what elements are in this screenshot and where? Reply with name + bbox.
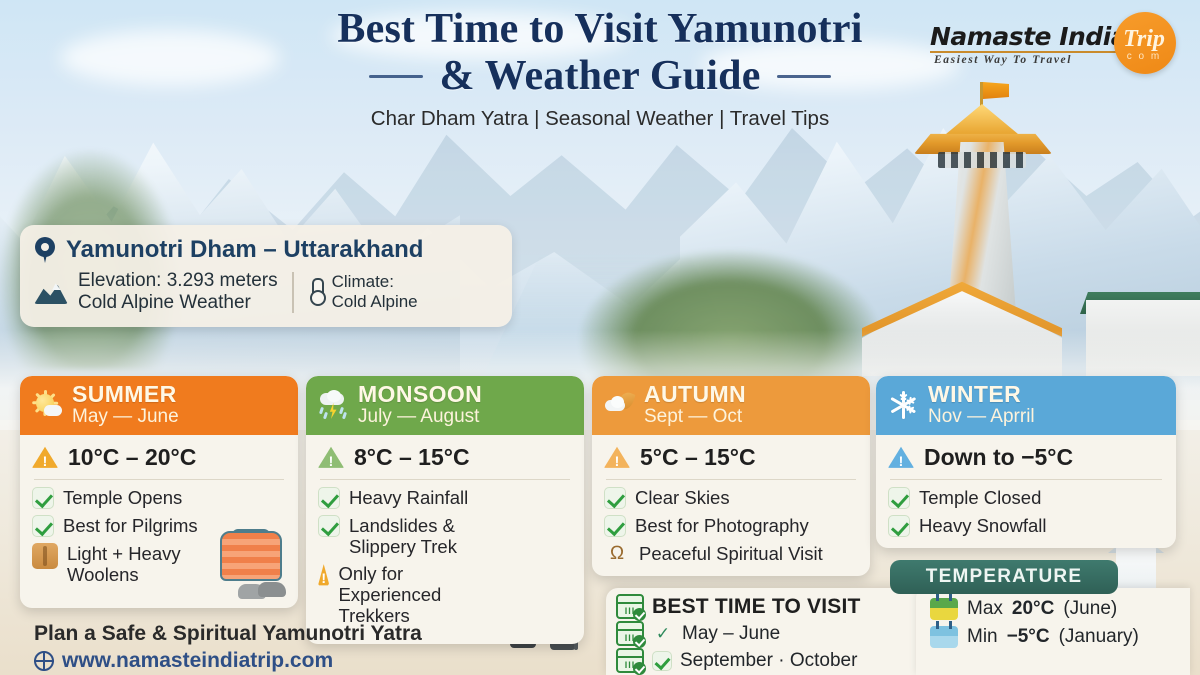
summer-card-header: SUMMER May — June <box>20 376 298 435</box>
autumn-feature-2-label: Best for Photography <box>635 515 809 537</box>
cloud-leaf-icon <box>604 391 634 419</box>
storm-cloud-icon <box>318 391 348 419</box>
temperature-max-prefix: Max <box>967 598 1003 620</box>
summer-months: May — June <box>72 407 179 426</box>
winter-feature-2: Heavy Snowfall <box>888 515 1164 537</box>
monsoon-card-header: MONSOON July — August <box>306 376 584 435</box>
check-icon <box>318 515 340 537</box>
temperature-min-suffix: (January) <box>1059 626 1139 648</box>
best-time-to-visit-box: BEST TIME TO VISIT ✓ May – June Septembe… <box>606 588 938 675</box>
map-pin-icon <box>34 237 56 263</box>
elevation-line2: Cold Alpine Weather <box>78 292 251 313</box>
thermometer-icon <box>308 278 324 306</box>
warning-icon <box>888 446 914 469</box>
footer: Plan a Safe & Spiritual Yamunotri Yatra … <box>34 622 422 673</box>
autumn-card-header: AUTUMN Sept — Oct <box>592 376 870 435</box>
best-time-item-2: September · October <box>616 648 928 673</box>
check-icon <box>32 487 54 509</box>
om-icon: Ω <box>604 543 630 565</box>
winter-months: Nov — Aprril <box>928 407 1035 426</box>
winter-temp: Down to −5°C <box>924 444 1073 471</box>
check-icon <box>888 487 910 509</box>
best-time-title-row: BEST TIME TO VISIT <box>616 594 928 619</box>
climate-value: Cold Alpine <box>332 292 418 311</box>
monsoon-feature-3: Only for Experienced Trekkers <box>318 563 448 626</box>
summer-feature-3: Light + Heavy Woolens <box>32 543 202 585</box>
summer-divider <box>34 479 284 480</box>
elevation-text: Elevation: 3.293 meters Cold Alpine Weat… <box>78 270 278 315</box>
summer-temp: 10°C – 20°C <box>68 444 196 471</box>
best-time-item-2-label: September · October <box>680 650 857 672</box>
monsoon-months: July — August <box>358 407 482 426</box>
temperature-tab: TEMPERATURE <box>890 560 1118 594</box>
autumn-feature-2: Best for Photography <box>604 515 858 537</box>
warning-icon <box>604 446 630 469</box>
autumn-divider <box>606 479 856 480</box>
infographic-canvas: Best Time to Visit Yamunotri & Weather G… <box>0 0 1200 675</box>
globe-icon <box>34 651 54 671</box>
brand-logo[interactable]: Namaste India Easiest Way To Travel Trip… <box>920 10 1182 76</box>
location-title: Yamunotri Dham – Uttarakhand <box>66 236 423 264</box>
monsoon-feature-1-label: Heavy Rainfall <box>349 487 468 509</box>
max-temp-icon <box>930 598 958 620</box>
temperature-min-row: Min −5°C (January) <box>930 626 1182 648</box>
page-subtitle: Char Dham Yatra | Seasonal Weather | Tra… <box>0 107 1200 131</box>
elevation-block: Elevation: 3.293 meters Cold Alpine Weat… <box>34 270 292 315</box>
monsoon-feature-2: Landslides & Slippery Trek <box>318 515 480 557</box>
winter-card-body: Down to −5°C Temple Closed Heavy Snowfal… <box>876 435 1176 548</box>
temperature-title: TEMPERATURE <box>926 566 1082 588</box>
autumn-feature-1-label: Clear Skies <box>635 487 730 509</box>
autumn-card-body: 5°C – 15°C Clear Skies Best for Photogra… <box>592 435 870 576</box>
monsoon-feature-2-label: Landslides & Slippery Trek <box>349 515 480 557</box>
check-icon <box>32 515 54 537</box>
climate-label: Climate: <box>332 272 394 291</box>
temperature-max-value: 20°C <box>1012 598 1054 620</box>
location-info-card: Yamunotri Dham – Uttarakhand Elevation: … <box>20 225 512 327</box>
autumn-temp-row: 5°C – 15°C <box>604 444 858 471</box>
logo-trip-text: Trip <box>1116 26 1172 53</box>
summer-season-name: SUMMER <box>72 383 179 406</box>
leaf-check-icon: ✓ <box>652 624 674 644</box>
autumn-feature-3-label: Peaceful Spiritual Visit <box>639 543 823 565</box>
winter-season-name: WINTER <box>928 383 1035 406</box>
warning-icon <box>32 446 58 469</box>
jacket-icon <box>32 543 58 569</box>
winter-card-header: WINTER Nov — Aprril <box>876 376 1176 435</box>
logo-domain-text: c o m <box>1116 51 1172 62</box>
logo-tagline: Easiest Way To Travel <box>934 54 1072 66</box>
monsoon-season-name: MONSOON <box>358 383 482 406</box>
summer-card-body: 10°C – 20°C Temple Opens Best for Pilgri… <box>20 435 298 601</box>
summer-feature-1-label: Temple Opens <box>63 487 182 509</box>
monsoon-temp-row: 8°C – 15°C <box>318 444 572 471</box>
winter-temp-row: Down to −5°C <box>888 444 1164 471</box>
temperature-max-row: Max 20°C (June) <box>930 598 1182 620</box>
summer-temp-row: 10°C – 20°C <box>32 444 286 471</box>
best-time-item-1-label: May – June <box>682 623 780 645</box>
elevation-line1: Elevation: 3.293 meters <box>78 270 278 291</box>
footer-tagline: Plan a Safe & Spiritual Yamunotri Yatra <box>34 622 422 646</box>
temperature-max-suffix: (June) <box>1063 598 1117 620</box>
footer-website-row[interactable]: www.namasteindiatrip.com <box>34 649 422 673</box>
autumn-season-name: AUTUMN <box>644 383 746 406</box>
winter-feature-1-label: Temple Closed <box>919 487 1041 509</box>
best-time-item-1: ✓ May – June <box>616 621 928 646</box>
monsoon-feature-3-label: Only for Experienced Trekkers <box>338 563 448 626</box>
location-title-row: Yamunotri Dham – Uttarakhand <box>34 236 496 264</box>
season-card-winter[interactable]: WINTER Nov — Aprril Down to −5°C Temple … <box>876 376 1176 548</box>
climate-block: Climate: Cold Alpine <box>294 270 418 315</box>
temperature-box: Max 20°C (June) Min −5°C (January) TEMPE… <box>890 560 1190 675</box>
mountain-icon <box>34 278 68 306</box>
footer-website: www.namasteindiatrip.com <box>62 649 333 673</box>
warning-icon <box>318 563 329 586</box>
location-details: Elevation: 3.293 meters Cold Alpine Weat… <box>34 270 496 315</box>
warning-icon <box>318 446 344 469</box>
autumn-months: Sept — Oct <box>644 407 746 426</box>
snowflake-icon <box>888 390 918 420</box>
climate-text: Climate: Cold Alpine <box>332 272 418 313</box>
summer-feature-3-label: Light + Heavy Woolens <box>67 543 202 585</box>
winter-feature-1: Temple Closed <box>888 487 1164 509</box>
temperature-min-value: −5°C <box>1007 626 1050 648</box>
monsoon-divider <box>320 479 570 480</box>
winter-feature-2-label: Heavy Snowfall <box>919 515 1047 537</box>
min-temp-icon <box>930 626 958 648</box>
temperature-min-prefix: Min <box>967 626 998 648</box>
check-icon <box>604 515 626 537</box>
autumn-feature-1: Clear Skies <box>604 487 858 509</box>
calendar-check-icon <box>616 594 644 619</box>
calendar-check-icon <box>616 621 644 646</box>
title-rule-left <box>369 75 423 78</box>
monsoon-feature-1: Heavy Rainfall <box>318 487 572 509</box>
summer-feature-1: Temple Opens <box>32 487 286 509</box>
sun-cloud-icon <box>32 391 62 419</box>
woolens-illustration <box>206 525 292 599</box>
season-card-autumn[interactable]: AUTUMN Sept — Oct 5°C – 15°C Clear Skies… <box>592 376 870 576</box>
calendar-check-icon <box>616 648 644 673</box>
title-rule-right <box>777 75 831 78</box>
season-card-monsoon[interactable]: MONSOON July — August 8°C – 15°C Heavy R… <box>306 376 584 644</box>
autumn-temp: 5°C – 15°C <box>640 444 756 471</box>
summer-feature-2-label: Best for Pilgrims <box>63 515 198 537</box>
monsoon-temp: 8°C – 15°C <box>354 444 470 471</box>
check-icon <box>888 515 910 537</box>
check-icon <box>652 651 672 671</box>
temperature-body: Max 20°C (June) Min −5°C (January) <box>916 588 1190 675</box>
check-icon <box>318 487 340 509</box>
autumn-feature-3: Ω Peaceful Spiritual Visit <box>604 543 858 565</box>
logo-underline <box>930 51 1120 53</box>
monsoon-card-body: 8°C – 15°C Heavy Rainfall Landslides & S… <box>306 435 584 643</box>
logo-name: Namaste India <box>930 22 1127 51</box>
check-icon <box>604 487 626 509</box>
season-card-summer[interactable]: SUMMER May — June 10°C – 20°C Temple Ope… <box>20 376 298 608</box>
best-time-title: BEST TIME TO VISIT <box>652 595 861 619</box>
page-title-line2: & Weather Guide <box>439 55 760 98</box>
winter-divider <box>890 479 1162 480</box>
